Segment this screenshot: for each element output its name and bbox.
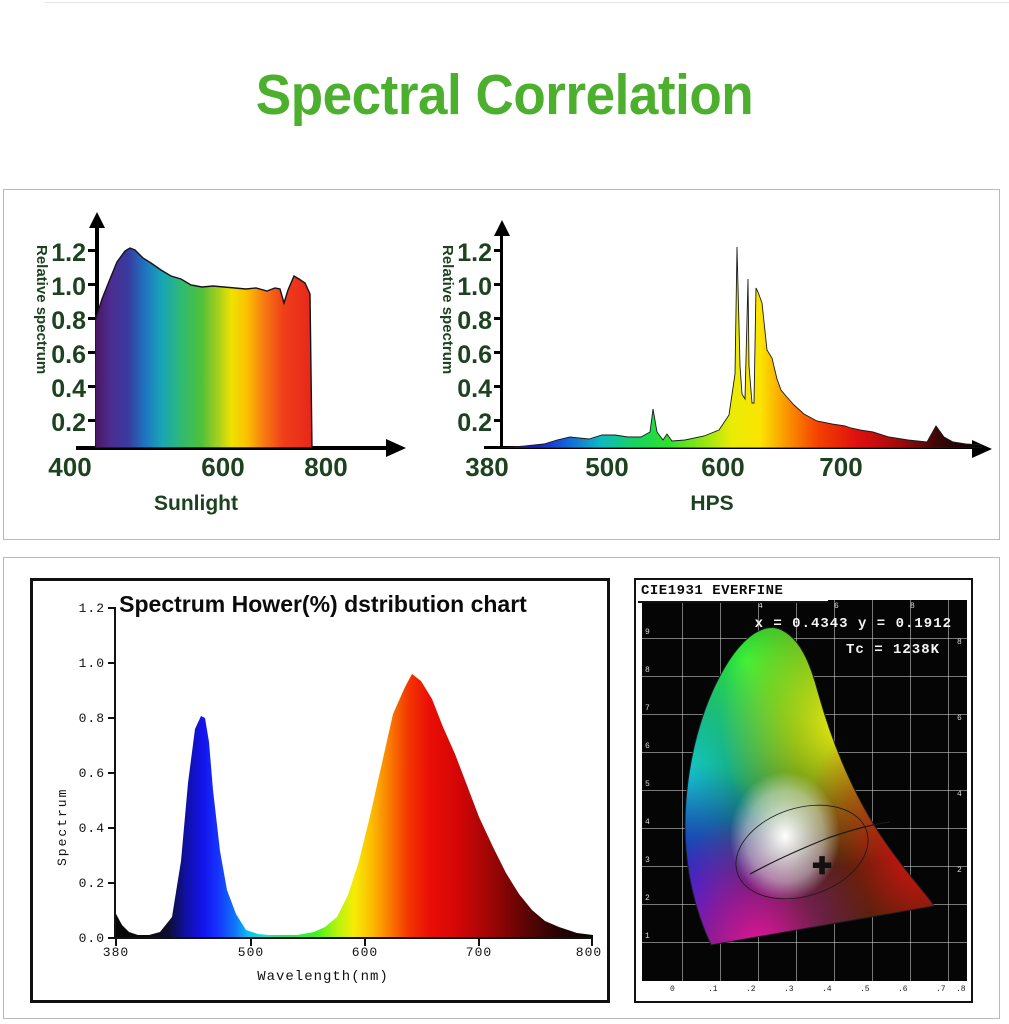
sunlight-ytick-0.6: 0.6 <box>36 343 86 368</box>
cie-ytick-label-right: 6 <box>957 714 962 723</box>
sunlight-ytick-0.4: 0.4 <box>36 377 86 402</box>
spectrum-xtick-700: 700 <box>456 945 502 960</box>
spectrum-ytick-0.4: 0.4 <box>63 821 105 836</box>
hps-xtick-500: 500 <box>572 454 642 480</box>
cie-xtick-label-1: .1 <box>708 985 718 994</box>
cie-xtick-label-0: 0 <box>670 985 675 994</box>
sunlight-chart-caption: Sunlight <box>136 492 256 516</box>
cie-xtick-label-top: 8 <box>910 602 915 611</box>
sunlight-ytick-0.2: 0.2 <box>36 411 86 436</box>
sunlight-y-axis-arrowhead <box>89 212 105 228</box>
hps-ytick-0.6: 0.6 <box>442 343 492 368</box>
sunlight-spectrum-curve <box>95 228 345 448</box>
cie-xtick-label-7: .7 <box>936 985 946 994</box>
spectrum-xtick-800: 800 <box>566 945 612 960</box>
cie-ytick-label-right: 2 <box>957 866 962 875</box>
cie-ytick-label: 9 <box>645 628 650 637</box>
cie-ytick-label: 3 <box>645 856 650 865</box>
spectrum-ytick-1.0: 1.0 <box>63 656 105 671</box>
spectrum-ytick-0.8: 0.8 <box>63 711 105 726</box>
sunlight-ytick-0.8: 0.8 <box>36 309 86 334</box>
cie-xtick-label-top: 6 <box>834 602 839 611</box>
spectrum-ytick-0.2: 0.2 <box>63 876 105 891</box>
hps-ytick-1.0: 1.0 <box>442 275 492 300</box>
page-title: Spectral Correlation <box>35 62 973 128</box>
cie-xtick-label-top: 4 <box>758 602 763 611</box>
cie-ytick-label: 6 <box>645 742 650 751</box>
sunlight-ytick-1.2: 1.2 <box>36 241 86 266</box>
cie-xtick-label-2: .2 <box>746 985 756 994</box>
cie-ytick-label-right: 8 <box>957 638 962 647</box>
spectrum-ytick-0.0: 0.0 <box>63 931 105 946</box>
cie-ytick-label: 2 <box>645 894 650 903</box>
hps-chart-caption: HPS <box>662 492 762 516</box>
cie-ytick-label: 8 <box>645 666 650 675</box>
cie-ytick-label-right: 4 <box>957 790 962 799</box>
cie1931-header-strip: CIE1931 EVERFINE <box>638 582 828 603</box>
spectrum-distribution-curve <box>115 607 593 938</box>
sunlight-xtick-800: 800 <box>296 454 356 480</box>
spectrum-ytick-0.6: 0.6 <box>63 766 105 781</box>
sunlight-spectrum-chart: Relative spectrum 1.2 1.0 0.8 0.6 0.4 0.… <box>16 198 416 528</box>
cie1931-title: CIE1931 EVERFINE <box>641 583 783 599</box>
sunlight-ytick-1.0: 1.0 <box>36 275 86 300</box>
hps-spectrum-curve <box>500 234 982 448</box>
cie-ytick-label: 4 <box>645 818 650 827</box>
hps-ytick-0.2: 0.2 <box>442 411 492 436</box>
hps-ytick-1.2: 1.2 <box>442 241 492 266</box>
spectrum-x-axis-title: Wavelength(nm) <box>33 969 613 985</box>
cie-xtick-label-3: .3 <box>784 985 794 994</box>
spectrum-xtick-600: 600 <box>342 945 388 960</box>
spectrum-y-axis <box>114 607 116 938</box>
spectrum-x-axis <box>114 937 593 939</box>
cie-xtick-label-4: .4 <box>822 985 832 994</box>
cie-ytick-label: 7 <box>645 704 650 713</box>
hps-spectrum-chart: Relative spectrum 1.2 1.0 0.8 0.6 0.4 0.… <box>424 198 994 528</box>
cie1931-plot-area: ✚ x = 0.4343 y = 0.1912 Tc = 1238K 9 8 7… <box>642 600 967 981</box>
hps-xtick-380: 380 <box>452 454 522 480</box>
cie-tc-readout: Tc = 1238K <box>672 642 940 658</box>
cie-xtick-label-5: .5 <box>860 985 870 994</box>
cie-ytick-label: 1 <box>645 932 650 941</box>
spectrum-xtick-500: 500 <box>228 945 274 960</box>
sunlight-x-axis-arrowhead <box>386 439 406 457</box>
spectrum-distribution-chart: Spectrum Hower(%) dstribution chart Spec… <box>30 578 610 1003</box>
hps-xtick-700: 700 <box>806 454 876 480</box>
cie-xy-readout: x = 0.4343 y = 0.1912 <box>672 616 952 632</box>
cie-ytick-label: 5 <box>645 780 650 789</box>
spectrum-xtick-380: 380 <box>93 945 139 960</box>
cie-xtick-label-6: .6 <box>898 985 908 994</box>
sunlight-xtick-600: 600 <box>193 454 253 480</box>
top-divider-rule <box>45 2 1009 3</box>
sunlight-xtick-400: 400 <box>40 454 100 480</box>
hps-ytick-0.4: 0.4 <box>442 377 492 402</box>
hps-ytick-0.8: 0.8 <box>442 309 492 334</box>
spectrum-ytick-1.2: 1.2 <box>63 601 105 616</box>
cie1931-chromaticity-chart: ✚ x = 0.4343 y = 0.1912 Tc = 1238K 9 8 7… <box>634 578 973 1003</box>
hps-xtick-600: 600 <box>688 454 758 480</box>
cie-measured-point-marker: ✚ <box>812 855 832 879</box>
top-comparison-panel: Relative spectrum 1.2 1.0 0.8 0.6 0.4 0.… <box>3 189 1000 540</box>
cie-xtick-label-8: .8 <box>956 985 966 994</box>
